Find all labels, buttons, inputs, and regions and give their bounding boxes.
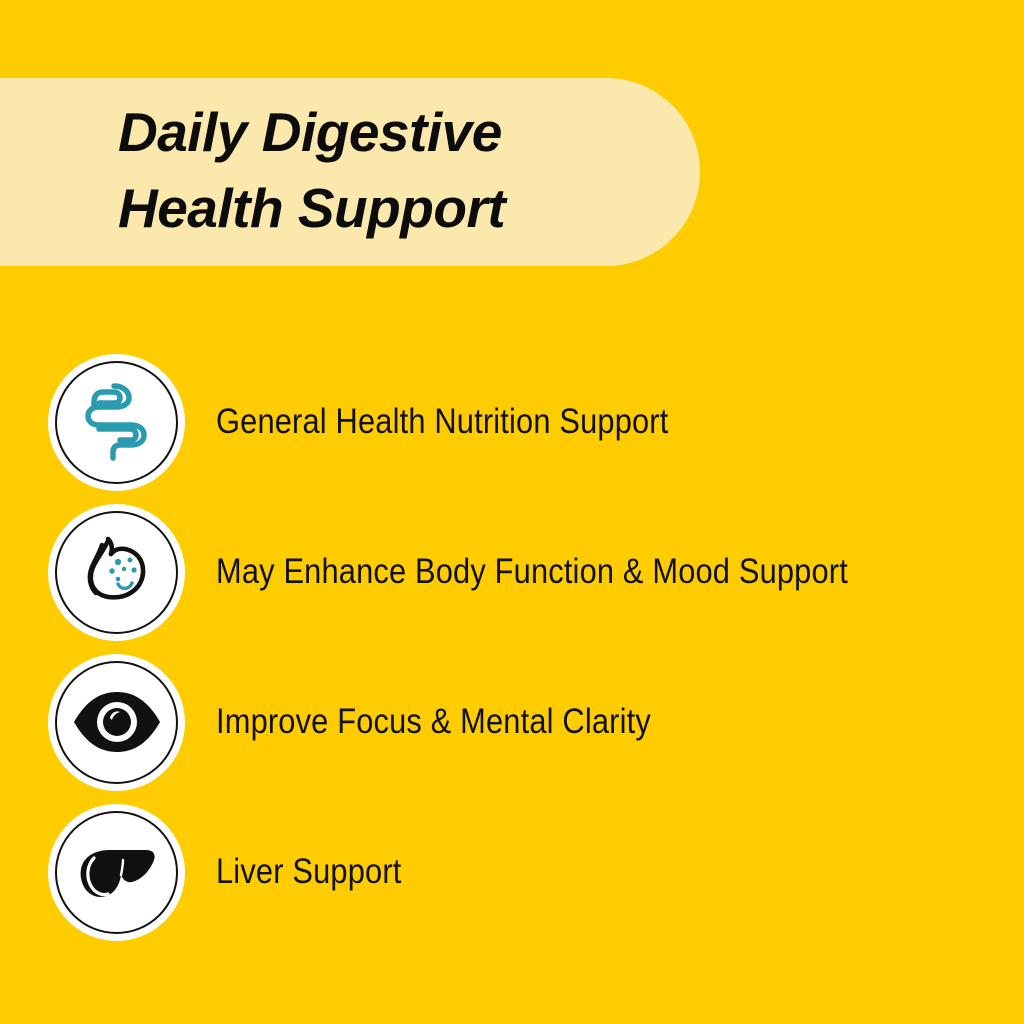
eye-icon-badge <box>48 654 185 791</box>
eye-icon <box>69 674 165 770</box>
product-benefits-poster: Daily Digestive Health Support General H… <box>0 0 1024 1024</box>
feature-label: Liver Support <box>216 852 401 892</box>
probiotic-dots <box>109 558 136 582</box>
stomach-icon <box>72 527 162 617</box>
intestine-icon-badge <box>48 354 185 491</box>
list-item: Liver Support <box>0 797 1024 947</box>
feature-label: May Enhance Body Function & Mood Support <box>216 552 848 592</box>
liver-icon-badge <box>48 804 185 941</box>
stomach-icon-badge <box>48 504 185 641</box>
page-title-line-1: Daily Digestive <box>118 94 700 170</box>
page-title-line-2: Health Support <box>118 170 700 246</box>
feature-label: Improve Focus & Mental Clarity <box>216 702 651 742</box>
list-item: May Enhance Body Function & Mood Support <box>0 497 1024 647</box>
smile-arc <box>118 583 132 588</box>
title-banner: Daily Digestive Health Support <box>0 78 700 266</box>
list-item: General Health Nutrition Support <box>0 347 1024 497</box>
intestine-icon <box>73 378 161 466</box>
feature-list: General Health Nutrition Support <box>0 347 1024 947</box>
feature-label: General Health Nutrition Support <box>216 402 668 442</box>
liver-icon <box>70 825 164 919</box>
list-item: Improve Focus & Mental Clarity <box>0 647 1024 797</box>
